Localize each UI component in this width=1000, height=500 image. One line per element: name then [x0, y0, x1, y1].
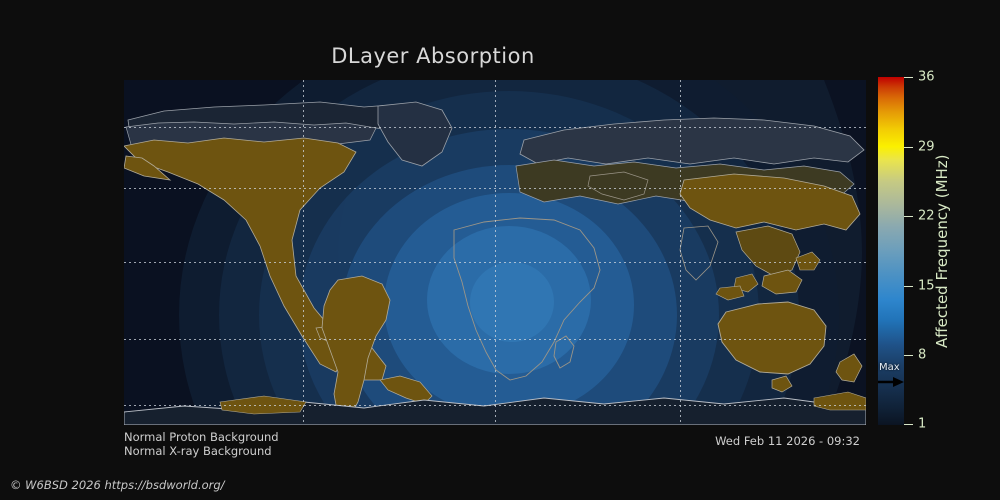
colorbar-tick-15 — [904, 286, 913, 287]
timestamp: Wed Feb 11 2026 - 09:32 — [0, 434, 866, 448]
copyright-notice: © W6BSD 2026 https://bsdworld.org/ — [10, 478, 225, 492]
world-map[interactable] — [124, 80, 866, 425]
colorbar-label-1: 1 — [918, 417, 926, 432]
colorbar-axis-title: Affected Frequency (MHz) — [930, 77, 954, 425]
colorbar[interactable]: 36 29 22 15 8 1 Max — [878, 77, 904, 425]
map-canvas — [124, 80, 866, 425]
arrow-right-icon — [878, 376, 904, 388]
colorbar-tick-29 — [904, 147, 913, 148]
colorbar-max-label: Max — [879, 363, 900, 373]
absorption-band-8 — [470, 262, 554, 342]
colorbar-max-marker: Max — [878, 365, 904, 391]
colorbar-tick-36 — [904, 77, 913, 78]
colorbar-label-8: 8 — [918, 348, 926, 363]
colorbar-tick-22 — [904, 216, 913, 217]
colorbar-tick-8 — [904, 355, 913, 356]
page-title: DLayer Absorption — [0, 44, 866, 68]
colorbar-tick-1 — [904, 424, 913, 425]
